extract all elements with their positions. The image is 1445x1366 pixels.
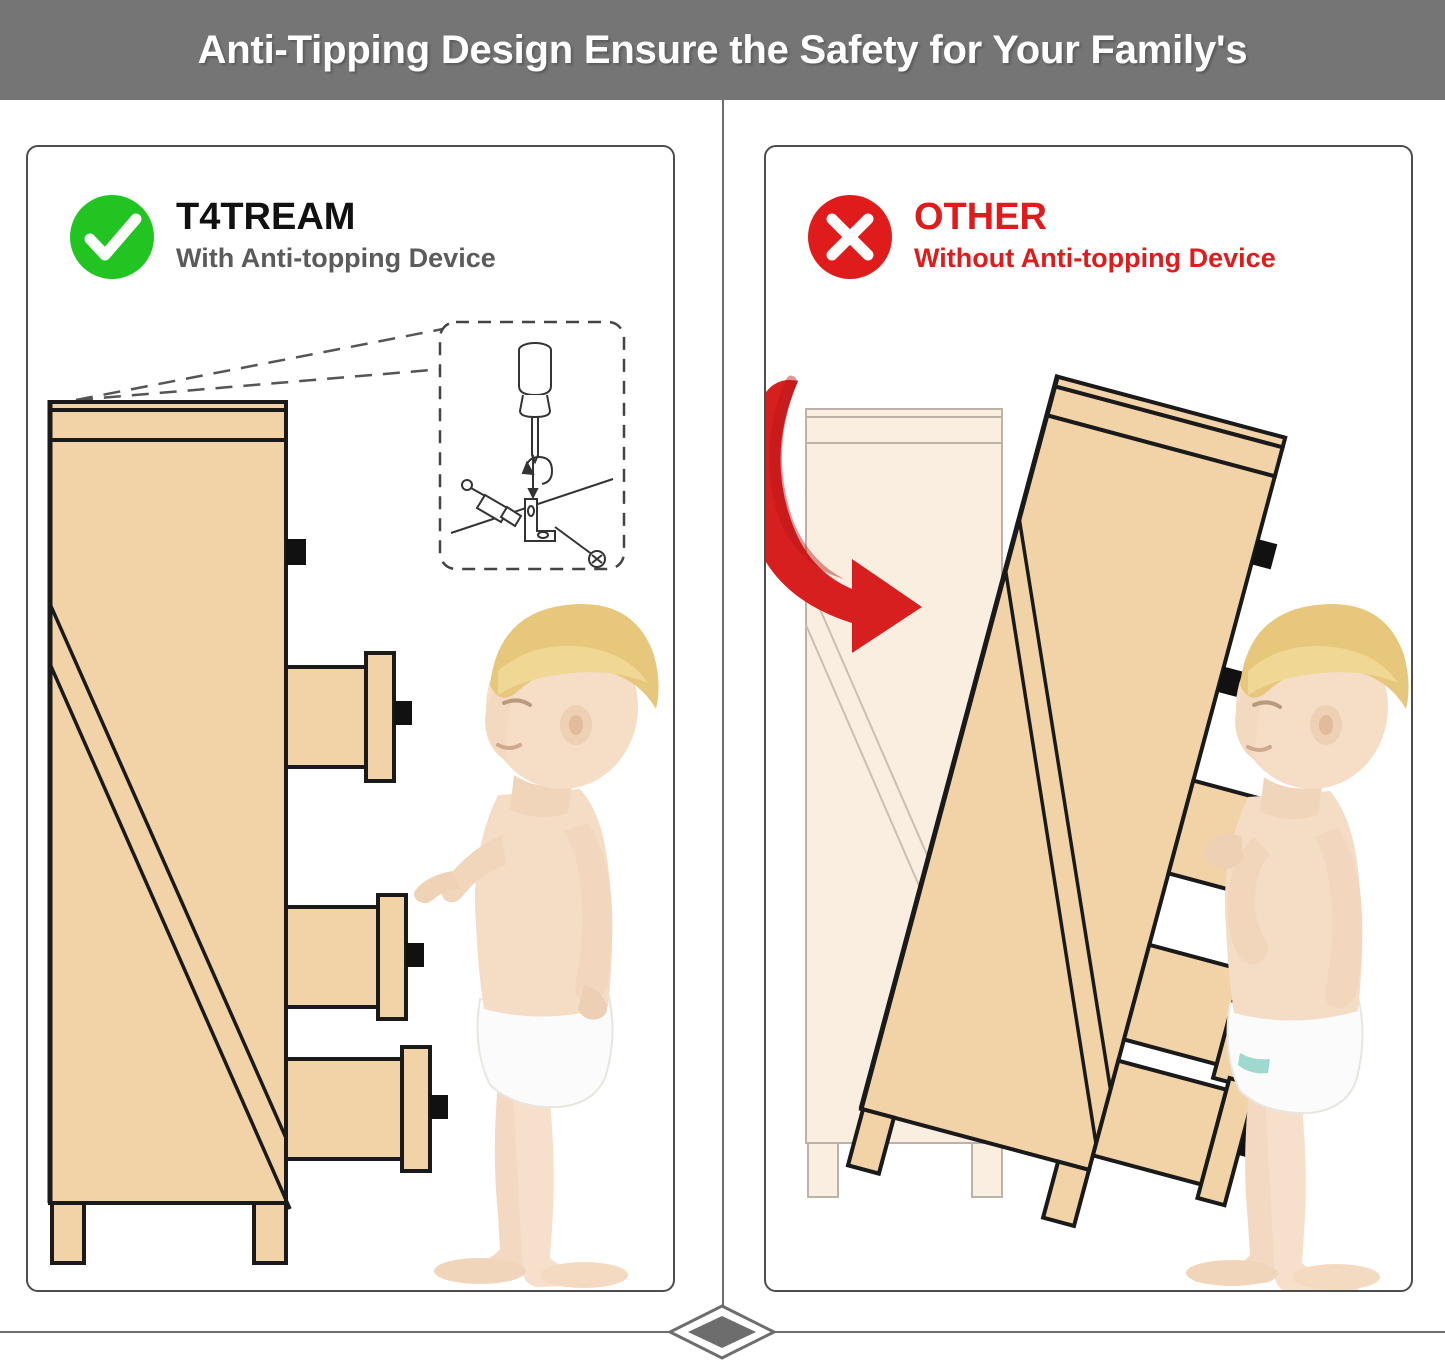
x-circle-icon: [808, 195, 892, 279]
brand-subtitle-label: With Anti-topping Device: [176, 244, 496, 274]
panel-head-text-good: T4TREAM With Anti-topping Device: [176, 195, 496, 274]
diamond-divider-ornament: [664, 1303, 780, 1361]
panel-divider: [722, 100, 724, 1332]
panel-with-anti-tip: T4TREAM With Anti-topping Device: [26, 145, 675, 1292]
callout-leader-lines: [76, 329, 443, 400]
dresser-drawer-open-2: [286, 895, 424, 1019]
dresser-upright: [50, 400, 290, 1263]
other-brand-subtitle-label: Without Anti-topping Device: [914, 244, 1276, 274]
brand-name-label: T4TREAM: [176, 197, 496, 238]
panel-head-bad: OTHER Without Anti-topping Device: [808, 195, 1276, 279]
dresser-drawer-open-1: [286, 653, 412, 781]
panel-head-good: T4TREAM With Anti-topping Device: [70, 195, 496, 279]
page-title: Anti-Tipping Design Ensure the Safety fo…: [198, 28, 1248, 73]
scene-tipping-dresser: [766, 147, 1411, 1290]
anti-tip-anchor-callout: [437, 319, 627, 572]
panel-without-anti-tip: OTHER Without Anti-topping Device: [764, 145, 1413, 1292]
other-brand-label: OTHER: [914, 197, 1276, 238]
check-circle-icon: [70, 195, 154, 279]
child-figure-left: [414, 604, 659, 1288]
dresser-drawer-open-3: [286, 1047, 448, 1171]
header-banner: Anti-Tipping Design Ensure the Safety fo…: [0, 0, 1445, 100]
panel-head-text-bad: OTHER Without Anti-topping Device: [914, 195, 1276, 274]
comparison-stage: T4TREAM With Anti-topping Device: [0, 100, 1445, 1363]
